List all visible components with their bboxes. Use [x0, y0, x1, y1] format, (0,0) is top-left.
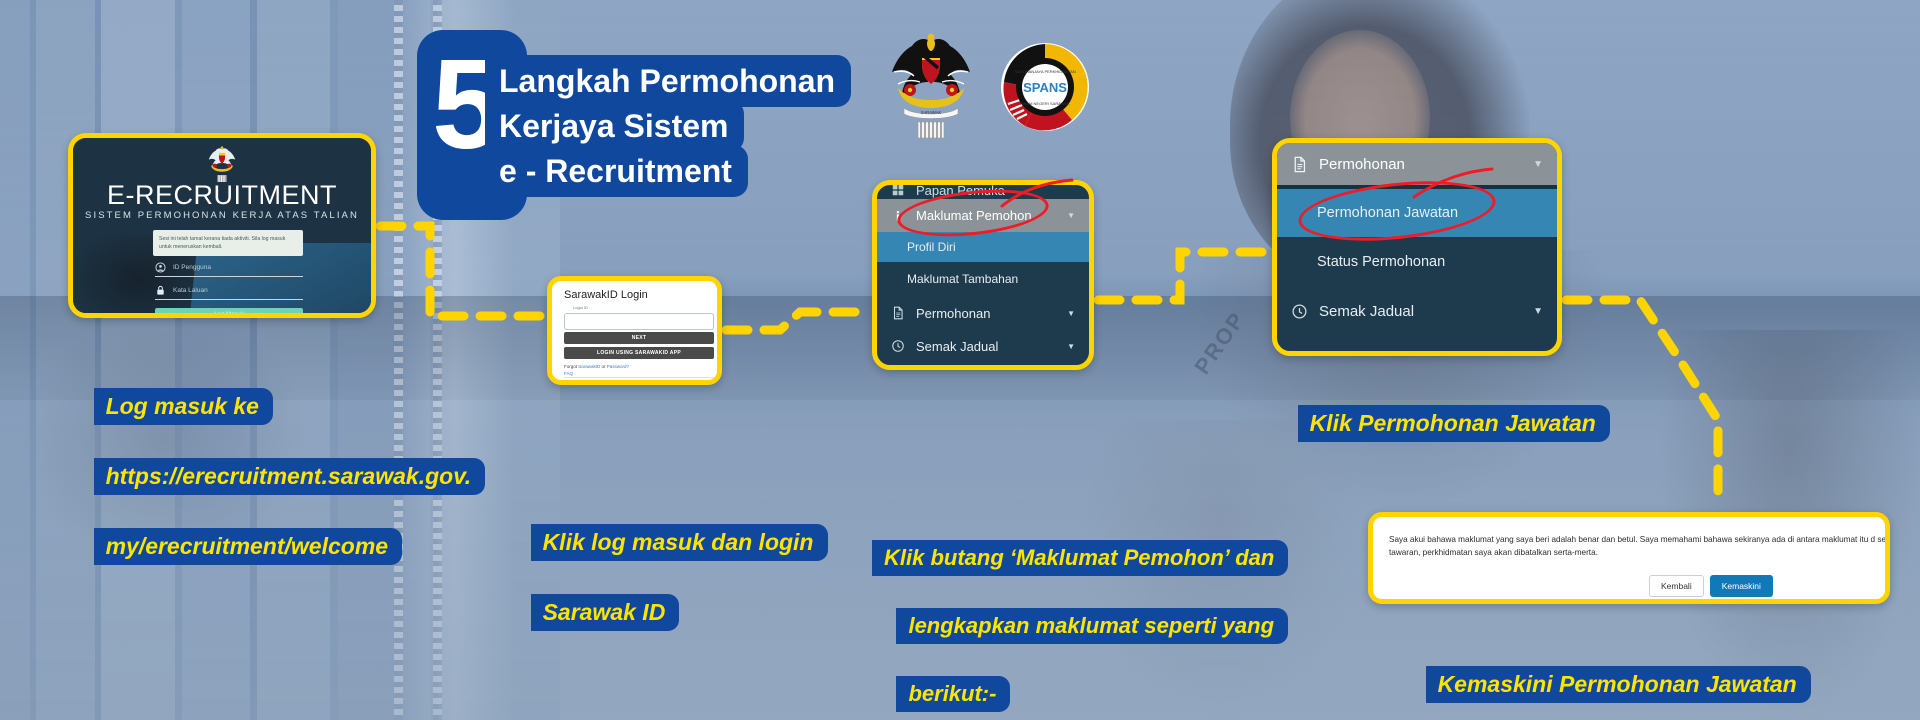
sidebar-item-semak-jadual-label: Semak Jadual — [916, 339, 998, 354]
erecruitment-password-placeholder: Kata Laluan — [173, 287, 208, 294]
caption-step-1-line-3: my/erecruitment/welcome — [94, 528, 403, 565]
sarawakid-forgot-line: Forgot SarawakID or Password? — [564, 363, 629, 370]
erecruitment-userid-field[interactable]: ID Pengguna — [155, 258, 303, 277]
chevron-down-icon: ▼ — [1533, 306, 1543, 317]
erecruitment-userid-placeholder: ID Pengguna — [173, 264, 211, 271]
sarawakid-help-links: Forgot SarawakID or Password? FAQ — [564, 363, 629, 377]
sarawakid-faq-link[interactable]: FAQ — [564, 371, 573, 376]
caption-step-1: Log masuk ke https://erecruitment.sarawa… — [68, 356, 498, 598]
menu-maklumat-pemohon-screenshot[interactable]: Papan Pemuka Maklumat Pemohon ▼ Profil D… — [872, 180, 1094, 370]
user-icon — [155, 262, 166, 273]
sidebar-item-maklumat-tambahan[interactable]: Maklumat Tambahan — [877, 262, 1089, 296]
caption-step-3: Klik butang ‘Maklumat Pemohon’ dan lengk… — [872, 478, 1292, 720]
sidebar-item-maklumat-pemohon[interactable]: Maklumat Pemohon ▼ — [877, 199, 1089, 232]
sarawakid-loginid-input[interactable] — [564, 313, 714, 330]
confirmation-dialog-actions: Kembali Kemaskini — [1649, 575, 1773, 597]
infographic-canvas: PROP 5 Langkah Permohonan Kerjaya Sistem… — [0, 0, 1920, 720]
svg-text:SURUHANJAYA PERKHIDMATAN: SURUHANJAYA PERKHIDMATAN — [1014, 69, 1075, 74]
caption-step-3-line-1: Klik butang ‘Maklumat Pemohon’ dan — [872, 540, 1288, 576]
sidebar-item-profil-diri-label: Profil Diri — [907, 240, 956, 254]
header-title-line-3: e - Recruitment — [485, 145, 748, 197]
clock-icon — [1291, 302, 1308, 321]
sarawakid-divider — [564, 377, 714, 378]
sidebar-item-papan-pemuka[interactable]: Papan Pemuka — [877, 181, 1089, 199]
caption-step-5: Kemaskini Permohonan Jawatan — [1400, 634, 1811, 720]
caption-step-3-line-3: berikut:- — [896, 676, 1010, 712]
caption-step-2: Klik log masuk dan login Sarawak ID — [505, 492, 835, 664]
caption-step-2-line-1: Klik log masuk dan login — [531, 524, 828, 561]
sidebar2-item-status-permohonan[interactable]: Status Permohonan — [1277, 237, 1557, 287]
sarawak-coat-of-arms-icon: SARAWAK — [888, 26, 974, 144]
erecruitment-session-message: Sesi ini telah tamat kerana tiada aktivi… — [153, 230, 303, 256]
confirmation-dialog-screenshot[interactable]: Saya akui bahawa maklumat yang saya beri… — [1368, 512, 1890, 604]
chevron-down-icon: ▼ — [1533, 159, 1543, 170]
caption-step-4: Klik Permohonan Jawatan — [1272, 373, 1610, 475]
sarawakid-loginid-wrapper: Login ID — [564, 309, 714, 326]
caption-step-1-line-2: https://erecruitment.sarawak.gov. — [94, 458, 486, 495]
caption-step-3-line-2: lengkapkan maklumat seperti yang — [896, 608, 1288, 644]
kembali-button[interactable]: Kembali — [1649, 575, 1704, 597]
sidebar-item-maklumat-pemohon-label: Maklumat Pemohon — [916, 208, 1032, 223]
sidebar-item-profil-diri[interactable]: Profil Diri — [877, 232, 1089, 262]
caption-step-2-line-2: Sarawak ID — [531, 594, 680, 631]
svg-text:SARAWAK: SARAWAK — [921, 110, 942, 115]
erecruitment-login-screenshot[interactable]: E-RECRUITMENT SISTEM PERMOHONAN KERJA AT… — [68, 133, 376, 318]
erecruitment-subtitle: SISTEM PERMOHONAN KERJA ATAS TALIAN — [73, 210, 371, 221]
kemaskini-button[interactable]: Kemaskini — [1710, 575, 1773, 597]
sidebar2-item-permohonan-label: Permohonan — [1319, 156, 1405, 173]
sarawakid-loginid-legend: Login ID — [570, 305, 591, 310]
sarawakid-sarawaknet-link[interactable]: Login with SarawakNet — [564, 381, 610, 385]
caption-step-4-line-1: Klik Permohonan Jawatan — [1298, 405, 1610, 442]
caption-step-1-line-1: Log masuk ke — [94, 388, 273, 425]
info-icon — [891, 208, 905, 224]
sarawakid-forgot-prefix: Forgot — [564, 364, 578, 369]
dashboard-icon — [891, 182, 905, 198]
sarawakid-title: SarawakID Login — [564, 289, 648, 301]
sarawakid-forgot-password-link[interactable]: Password? — [607, 364, 629, 369]
sidebar-item-papan-pemuka-label: Papan Pemuka — [916, 183, 1005, 198]
sarawakid-forgot-id-link[interactable]: SarawakID — [578, 364, 600, 369]
erecruitment-title: E-RECRUITMENT — [73, 180, 371, 211]
sarawakid-login-screenshot[interactable]: SarawakID Login Login ID NEXT LOGIN USIN… — [547, 276, 722, 385]
menu-permohonan-screenshot[interactable]: Permohonan ▼ Permohonan Jawatan Status P… — [1272, 138, 1562, 356]
lock-icon — [155, 285, 166, 296]
sidebar2-item-semak-jadual[interactable]: Semak Jadual ▼ — [1277, 287, 1557, 335]
svg-text:AWAM NEGERI SARAWAK: AWAM NEGERI SARAWAK — [1020, 101, 1070, 106]
erecruitment-password-field[interactable]: Kata Laluan — [155, 281, 303, 300]
sidebar2-item-permohonan-jawatan[interactable]: Permohonan Jawatan — [1277, 189, 1557, 237]
document-icon — [891, 305, 905, 321]
chevron-down-icon: ▼ — [1067, 211, 1075, 220]
sidebar2-item-status-permohonan-label: Status Permohonan — [1317, 254, 1445, 270]
spans-logo-icon: SPANS SURUHANJAYA PERKHIDMATAN AWAM NEGE… — [1000, 42, 1090, 132]
document-icon — [1291, 155, 1308, 174]
sidebar-item-permohonan[interactable]: Permohonan ▼ — [877, 296, 1089, 330]
sidebar-item-permohonan-label: Permohonan — [916, 306, 990, 321]
confirmation-dialog-text: Saya akui bahawa maklumat yang saya beri… — [1389, 533, 1890, 559]
chevron-down-icon: ▼ — [1067, 342, 1075, 351]
sidebar2-item-semak-jadual-label: Semak Jadual — [1319, 303, 1414, 320]
erecruitment-login-button[interactable]: Log Masuk — [155, 308, 303, 318]
erecruitment-crest-icon — [207, 144, 237, 184]
caption-step-5-line-1: Kemaskini Permohonan Jawatan — [1426, 666, 1811, 703]
chevron-down-icon: ▼ — [1067, 309, 1075, 318]
sidebar2-item-permohonan[interactable]: Permohonan ▼ — [1277, 143, 1557, 185]
clock-icon — [891, 338, 905, 354]
sarawakid-app-login-button[interactable]: LOGIN USING SARAWAKID APP — [564, 347, 714, 359]
sarawakid-next-button[interactable]: NEXT — [564, 332, 714, 344]
sidebar-item-semak-jadual[interactable]: Semak Jadual ▼ — [877, 330, 1089, 362]
sidebar2-item-permohonan-jawatan-label: Permohonan Jawatan — [1317, 205, 1458, 221]
sidebar-item-maklumat-tambahan-label: Maklumat Tambahan — [907, 272, 1018, 286]
svg-text:SPANS: SPANS — [1023, 80, 1067, 95]
